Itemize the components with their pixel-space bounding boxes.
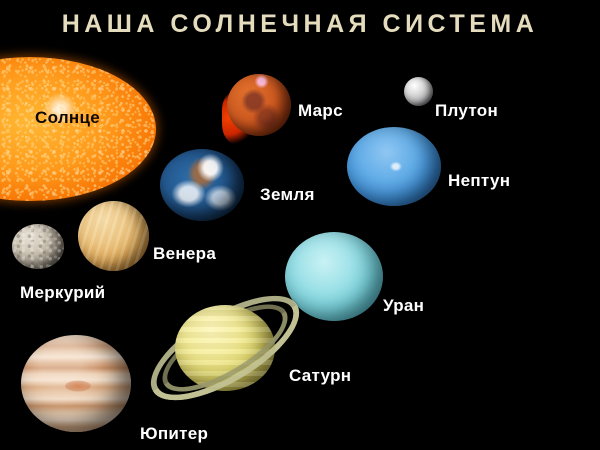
- label-neptune: Нептун: [448, 171, 510, 191]
- solar-system-poster: НАША СОЛНЕЧНАЯ СИСТЕМА Солнце Марс Плуто…: [0, 0, 600, 450]
- label-jupiter: Юпитер: [140, 424, 208, 444]
- label-saturn: Сатурн: [289, 366, 351, 386]
- sun-granulation-texture: [0, 57, 156, 201]
- jupiter-great-red-spot: [65, 381, 91, 392]
- pluto-dwarf-planet-icon: [404, 77, 433, 106]
- mercury-planet-icon: [12, 224, 64, 269]
- mars-planet-icon: [227, 74, 291, 136]
- saturn-planet-icon: [146, 262, 304, 434]
- page-title: НАША СОЛНЕЧНАЯ СИСТЕМА: [0, 10, 600, 38]
- venus-planet-icon: [78, 201, 149, 271]
- label-venus: Венера: [153, 244, 216, 264]
- label-mercury: Меркурий: [20, 283, 105, 303]
- jupiter-planet-icon: [21, 335, 131, 432]
- venus-cloud-texture: [78, 201, 149, 271]
- label-earth: Земля: [260, 185, 315, 205]
- label-sun: Солнце: [35, 108, 100, 128]
- label-mars: Марс: [298, 101, 343, 121]
- sun-disc-icon: [0, 57, 156, 201]
- mercury-crater-texture: [12, 224, 64, 269]
- label-uranus: Уран: [383, 296, 424, 316]
- neptune-planet-icon: [347, 127, 441, 206]
- label-pluto: Плутон: [435, 101, 498, 121]
- earth-planet-icon: [160, 149, 244, 221]
